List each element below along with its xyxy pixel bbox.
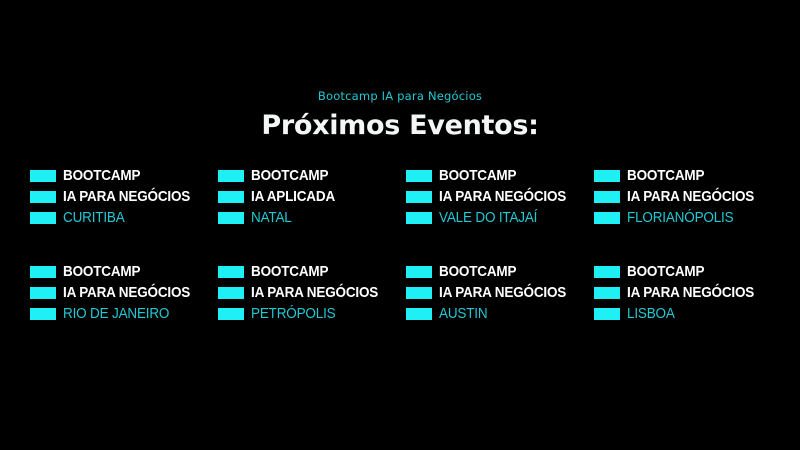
event-city: FLORIANÓPOLIS	[627, 210, 733, 226]
event-city: VALE DO ITAJAÍ	[439, 210, 537, 226]
cyan-rectangle-icon	[406, 212, 432, 225]
event-line2: IA PARA NEGÓCIOS	[251, 285, 378, 301]
cyan-rectangle-icon	[406, 308, 432, 321]
cyan-rectangle-icon	[218, 212, 244, 225]
event-line1: BOOTCAMP	[63, 168, 140, 184]
event-card[interactable]: BOOTCAMP IA PARA NEGÓCIOS AUSTIN	[406, 264, 594, 322]
event-line-secondary: IA PARA NEGÓCIOS	[594, 285, 776, 301]
event-line-city: NATAL	[218, 210, 400, 226]
event-line1: BOOTCAMP	[627, 264, 704, 280]
event-line-city: CURITIBA	[30, 210, 212, 226]
event-card[interactable]: BOOTCAMP IA PARA NEGÓCIOS PETRÓPOLIS	[218, 264, 406, 322]
event-city: RIO DE JANEIRO	[63, 306, 169, 322]
cyan-rectangle-icon	[406, 170, 432, 183]
cyan-rectangle-icon	[30, 191, 56, 204]
cyan-rectangle-icon	[218, 170, 244, 183]
cyan-rectangle-icon	[594, 170, 620, 183]
cyan-rectangle-icon	[218, 308, 244, 321]
event-line2: IA PARA NEGÓCIOS	[439, 189, 566, 205]
event-line-city: AUSTIN	[406, 306, 588, 322]
event-line-primary: BOOTCAMP	[406, 168, 588, 184]
event-line1: BOOTCAMP	[439, 264, 516, 280]
event-card[interactable]: BOOTCAMP IA PARA NEGÓCIOS CURITIBA	[30, 168, 218, 226]
event-card[interactable]: BOOTCAMP IA APLICADA NATAL	[218, 168, 406, 226]
cyan-rectangle-icon	[218, 266, 244, 279]
event-card[interactable]: BOOTCAMP IA PARA NEGÓCIOS LISBOA	[594, 264, 782, 322]
event-line2: IA APLICADA	[251, 189, 335, 205]
event-line-secondary: IA PARA NEGÓCIOS	[30, 285, 212, 301]
cyan-rectangle-icon	[594, 308, 620, 321]
event-line2: IA PARA NEGÓCIOS	[627, 285, 754, 301]
event-line-city: PETRÓPOLIS	[218, 306, 400, 322]
event-line-secondary: IA APLICADA	[218, 189, 400, 205]
cyan-rectangle-icon	[218, 191, 244, 204]
event-city: PETRÓPOLIS	[251, 306, 335, 322]
event-line2: IA PARA NEGÓCIOS	[439, 285, 566, 301]
event-line-city: FLORIANÓPOLIS	[594, 210, 776, 226]
cyan-rectangle-icon	[30, 170, 56, 183]
slide-header: Bootcamp IA para Negócios Próximos Event…	[0, 88, 800, 142]
event-city: LISBOA	[627, 306, 675, 322]
event-city: AUSTIN	[439, 306, 487, 322]
event-card[interactable]: BOOTCAMP IA PARA NEGÓCIOS VALE DO ITAJAÍ	[406, 168, 594, 226]
event-line-primary: BOOTCAMP	[594, 168, 776, 184]
event-line-secondary: IA PARA NEGÓCIOS	[594, 189, 776, 205]
event-card[interactable]: BOOTCAMP IA PARA NEGÓCIOS FLORIANÓPOLIS	[594, 168, 782, 226]
cyan-rectangle-icon	[30, 287, 56, 300]
event-line-primary: BOOTCAMP	[406, 264, 588, 280]
event-city: CURITIBA	[63, 210, 125, 226]
event-line2: IA PARA NEGÓCIOS	[627, 189, 754, 205]
events-grid: BOOTCAMP IA PARA NEGÓCIOS CURITIBA BOOTC…	[30, 168, 782, 322]
event-line-secondary: IA PARA NEGÓCIOS	[406, 285, 588, 301]
cyan-rectangle-icon	[30, 266, 56, 279]
event-line1: BOOTCAMP	[251, 264, 328, 280]
event-line-primary: BOOTCAMP	[594, 264, 776, 280]
event-card[interactable]: BOOTCAMP IA PARA NEGÓCIOS RIO DE JANEIRO	[30, 264, 218, 322]
event-line-secondary: IA PARA NEGÓCIOS	[218, 285, 400, 301]
event-line-city: VALE DO ITAJAÍ	[406, 210, 588, 226]
cyan-rectangle-icon	[594, 287, 620, 300]
event-line1: BOOTCAMP	[439, 168, 516, 184]
event-line-primary: BOOTCAMP	[30, 168, 212, 184]
cyan-rectangle-icon	[406, 191, 432, 204]
event-line1: BOOTCAMP	[627, 168, 704, 184]
event-line2: IA PARA NEGÓCIOS	[63, 189, 190, 205]
event-line-city: RIO DE JANEIRO	[30, 306, 212, 322]
page-title: Próximos Eventos:	[0, 110, 800, 142]
event-slide: Bootcamp IA para Negócios Próximos Event…	[0, 0, 800, 450]
event-line-primary: BOOTCAMP	[30, 264, 212, 280]
event-line2: IA PARA NEGÓCIOS	[63, 285, 190, 301]
cyan-rectangle-icon	[30, 308, 56, 321]
event-line-secondary: IA PARA NEGÓCIOS	[406, 189, 588, 205]
event-line1: BOOTCAMP	[63, 264, 140, 280]
event-line-primary: BOOTCAMP	[218, 264, 400, 280]
cyan-rectangle-icon	[594, 266, 620, 279]
cyan-rectangle-icon	[594, 191, 620, 204]
event-line-primary: BOOTCAMP	[218, 168, 400, 184]
cyan-rectangle-icon	[406, 266, 432, 279]
cyan-rectangle-icon	[30, 212, 56, 225]
cyan-rectangle-icon	[218, 287, 244, 300]
event-line1: BOOTCAMP	[251, 168, 328, 184]
slide-kicker: Bootcamp IA para Negócios	[0, 88, 800, 104]
event-city: NATAL	[251, 210, 292, 226]
cyan-rectangle-icon	[406, 287, 432, 300]
event-line-city: LISBOA	[594, 306, 776, 322]
cyan-rectangle-icon	[594, 212, 620, 225]
event-line-secondary: IA PARA NEGÓCIOS	[30, 189, 212, 205]
